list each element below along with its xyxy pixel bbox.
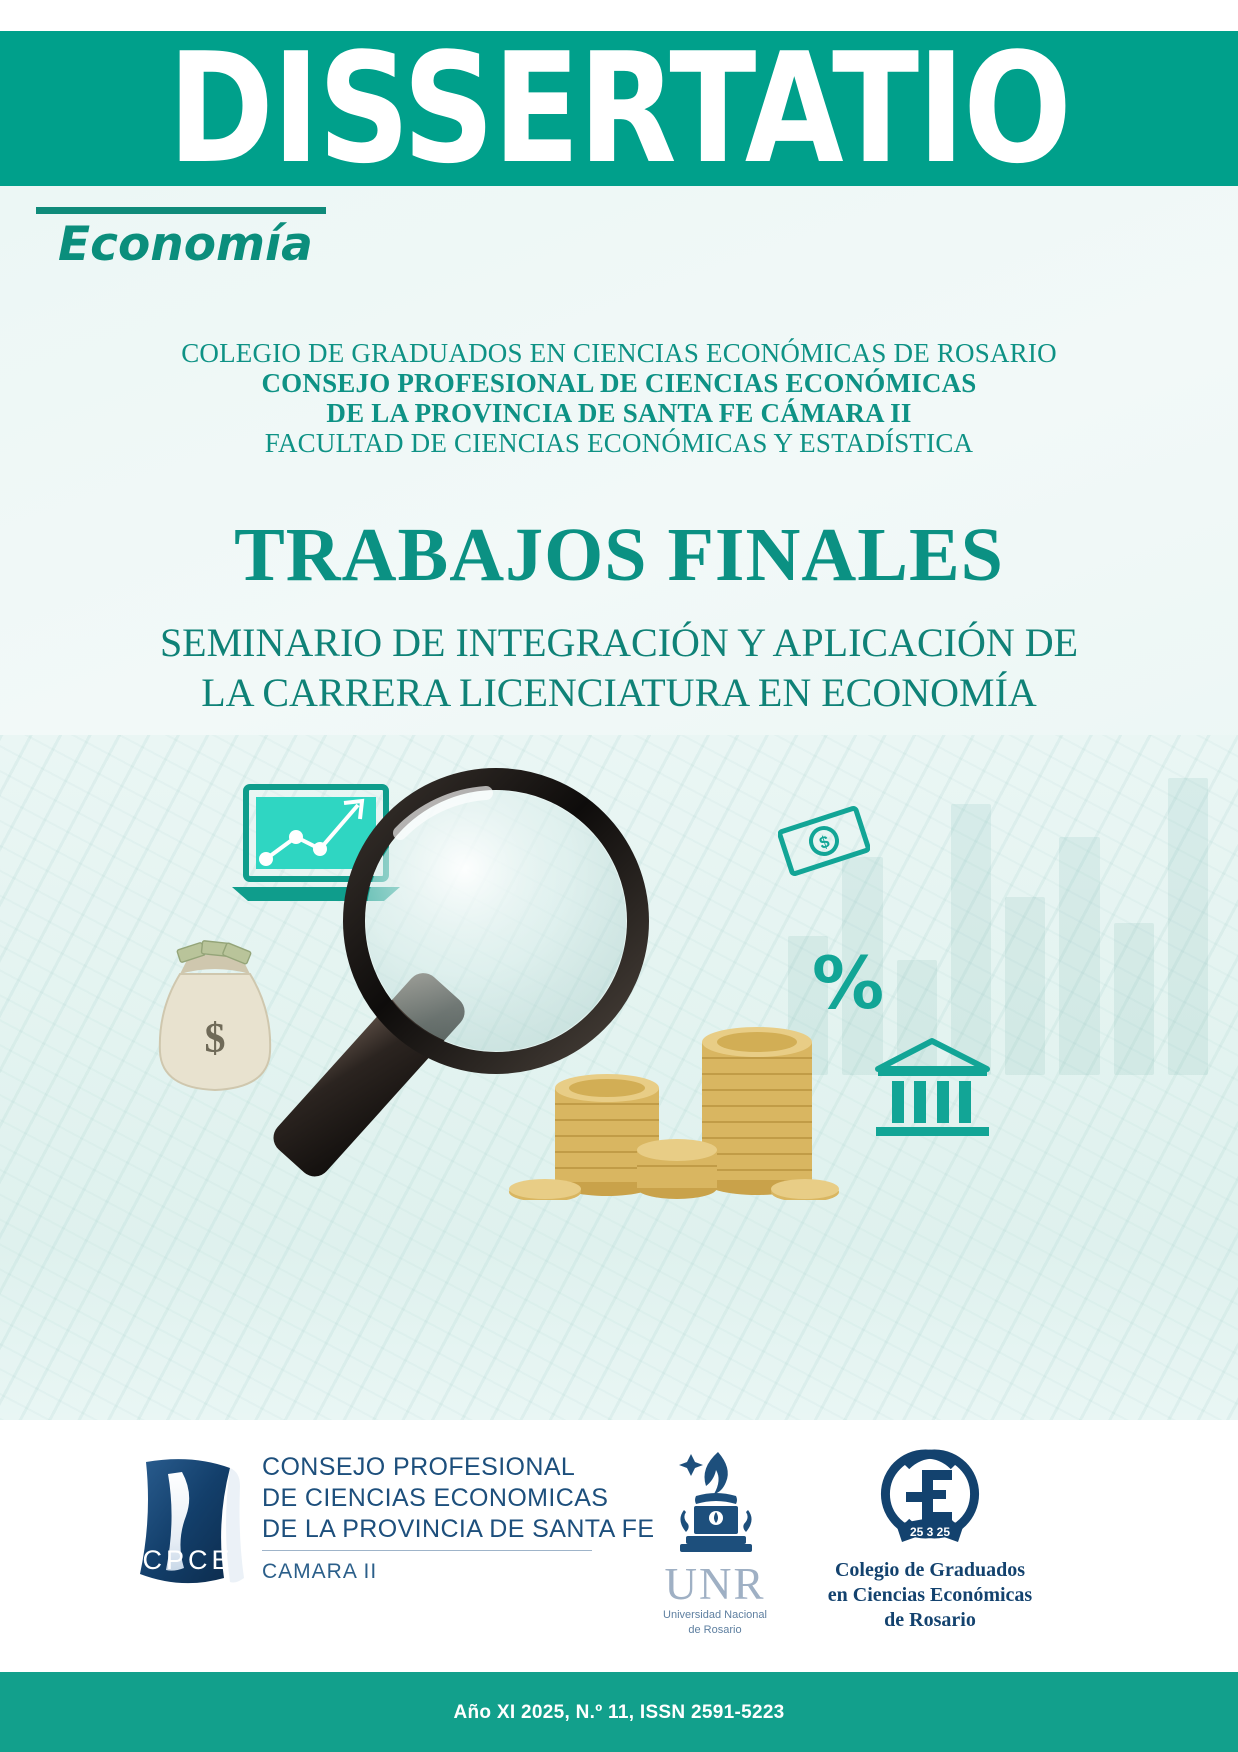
masthead-band: DISSERTATIO xyxy=(0,31,1238,186)
svg-text:$: $ xyxy=(817,832,832,853)
journal-title: DISSERTATIO xyxy=(168,34,1070,184)
unr-torch-icon xyxy=(660,1448,770,1552)
section-rule-top xyxy=(36,207,326,214)
unr-subtitle-2: de Rosario xyxy=(640,1624,790,1637)
cpce-wordmark: CONSEJO PROFESIONAL DE CIENCIAS ECONOMIC… xyxy=(262,1452,654,1587)
cgcer-line-1: Colegio de Graduados xyxy=(800,1558,1060,1583)
institution-line-2: CONSEJO PROFESIONAL DE CIENCIAS ECONÓMIC… xyxy=(0,368,1238,398)
issn-line: Año XI 2025, N.º 11, ISSN 2591-5223 xyxy=(0,1702,1238,1724)
seminar-subtitle: SEMINARIO DE INTEGRACIÓN Y APLICACIÓN DE… xyxy=(0,618,1238,718)
cpce-line-4: CAMARA II xyxy=(262,1556,654,1587)
cgcer-line-2: en Ciencias Económicas xyxy=(800,1583,1060,1608)
section-label-block: Economía xyxy=(36,207,331,276)
cpce-line-2: DE CIENCIAS ECONOMICAS xyxy=(262,1483,654,1514)
cover-illustration: $ xyxy=(0,735,1238,1420)
cpce-acronym: CPCE xyxy=(130,1545,246,1576)
logo-colegio-graduados: 25 3 25 Colegio de Graduados en Ciencias… xyxy=(800,1440,1060,1633)
unr-subtitle-1: Universidad Nacional xyxy=(640,1609,790,1622)
seminar-line-1: SEMINARIO DE INTEGRACIÓN Y APLICACIÓN DE xyxy=(0,618,1238,668)
section-label: Economía xyxy=(36,214,331,276)
institution-block: COLEGIO DE GRADUADOS EN CIENCIAS ECONÓMI… xyxy=(0,338,1238,458)
percent-icon: % xyxy=(812,947,884,1019)
cpce-mark-icon: CPCE xyxy=(130,1456,246,1584)
bank-building-icon xyxy=(870,1035,995,1145)
cgcer-monogram-icon: 25 3 25 xyxy=(870,1440,990,1552)
logo-cpce: CPCE CONSEJO PROFESIONAL DE CIENCIAS ECO… xyxy=(130,1452,654,1587)
institution-line-3: DE LA PROVINCIA DE SANTA FE CÁMARA II xyxy=(0,398,1238,428)
seminar-line-2: LA CARRERA LICENCIATURA EN ECONOMÍA xyxy=(0,668,1238,718)
institution-line-4: FACULTAD DE CIENCIAS ECONÓMICAS Y ESTADÍ… xyxy=(0,428,1238,458)
institution-line-1: COLEGIO DE GRADUADOS EN CIENCIAS ECONÓMI… xyxy=(0,338,1238,368)
cpce-divider xyxy=(262,1550,592,1551)
cpce-line-3: DE LA PROVINCIA DE SANTA FE xyxy=(262,1514,654,1545)
logo-unr: UNR Universidad Nacional de Rosario xyxy=(640,1448,790,1637)
cgcer-line-3: de Rosario xyxy=(800,1608,1060,1633)
magnifying-glass xyxy=(178,763,758,1183)
banknote-icon: $ xyxy=(778,803,870,879)
page-title: TRABAJOS FINALES xyxy=(0,512,1238,598)
cpce-line-1: CONSEJO PROFESIONAL xyxy=(262,1452,654,1483)
cgcer-ribbon-text: 25 3 25 xyxy=(910,1525,950,1539)
top-white-strip xyxy=(0,0,1238,31)
cgcer-wordmark: Colegio de Graduados en Ciencias Económi… xyxy=(800,1558,1060,1633)
unr-acronym: UNR xyxy=(640,1561,790,1607)
journal-cover: DISSERTATIO Economía COLEGIO DE GRADUADO… xyxy=(0,0,1238,1752)
